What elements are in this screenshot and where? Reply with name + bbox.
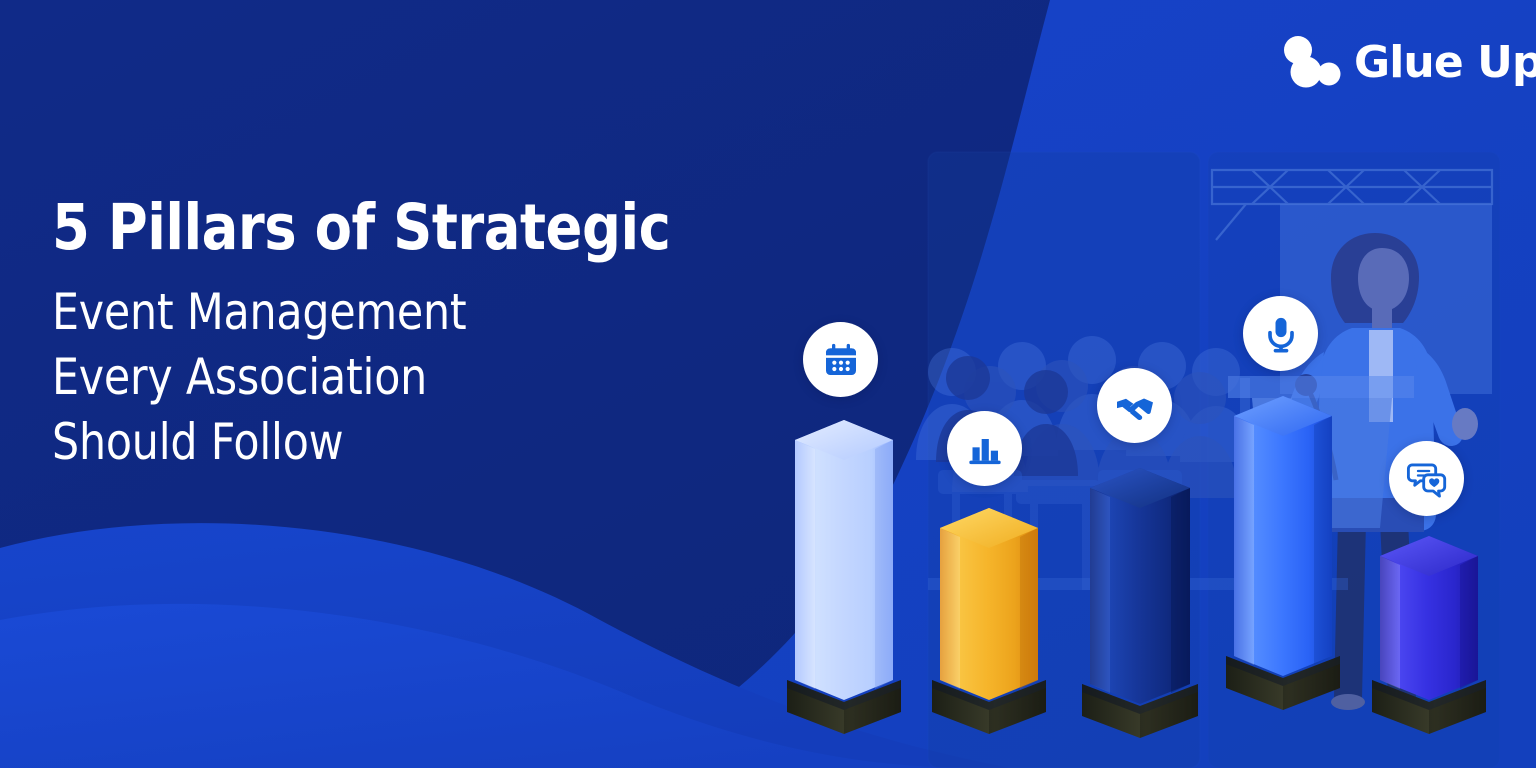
- handshake-icon: [1114, 385, 1156, 427]
- page-title: 5 Pillars of Strategic: [52, 196, 820, 260]
- glueup-molecule-icon: [1283, 35, 1341, 93]
- badge-chat-feedback[interactable]: [1389, 441, 1464, 516]
- subtitle-line-2: Every Association: [52, 345, 812, 410]
- banner-canvas: Glue Up 5 Pillars of Strategic Event Man…: [0, 0, 1536, 768]
- page-subtitle: Event Management Every Association Shoul…: [52, 280, 812, 475]
- subtitle-line-1: Event Management: [52, 280, 812, 345]
- copy-block: 5 Pillars of Strategic Event Management …: [52, 196, 852, 475]
- badge-bar-chart[interactable]: [947, 411, 1022, 486]
- pillar-3-partnerships: [1076, 458, 1204, 748]
- badge-microphone[interactable]: [1243, 296, 1318, 371]
- chat-feedback-icon: [1406, 458, 1448, 500]
- pillar-2-data-analytics: [928, 500, 1050, 742]
- brand-wordmark: Glue Up: [1354, 41, 1536, 85]
- pillar-5-engagement-feedback: [1368, 528, 1490, 742]
- subtitle-line-3: Should Follow: [52, 410, 812, 475]
- microphone-icon: [1261, 314, 1301, 354]
- brand-logo[interactable]: Glue Up: [1283, 33, 1536, 95]
- bar-chart-icon: [965, 429, 1005, 469]
- badge-handshake[interactable]: [1097, 368, 1172, 443]
- pillar-4-speakers-content: [1222, 388, 1344, 718]
